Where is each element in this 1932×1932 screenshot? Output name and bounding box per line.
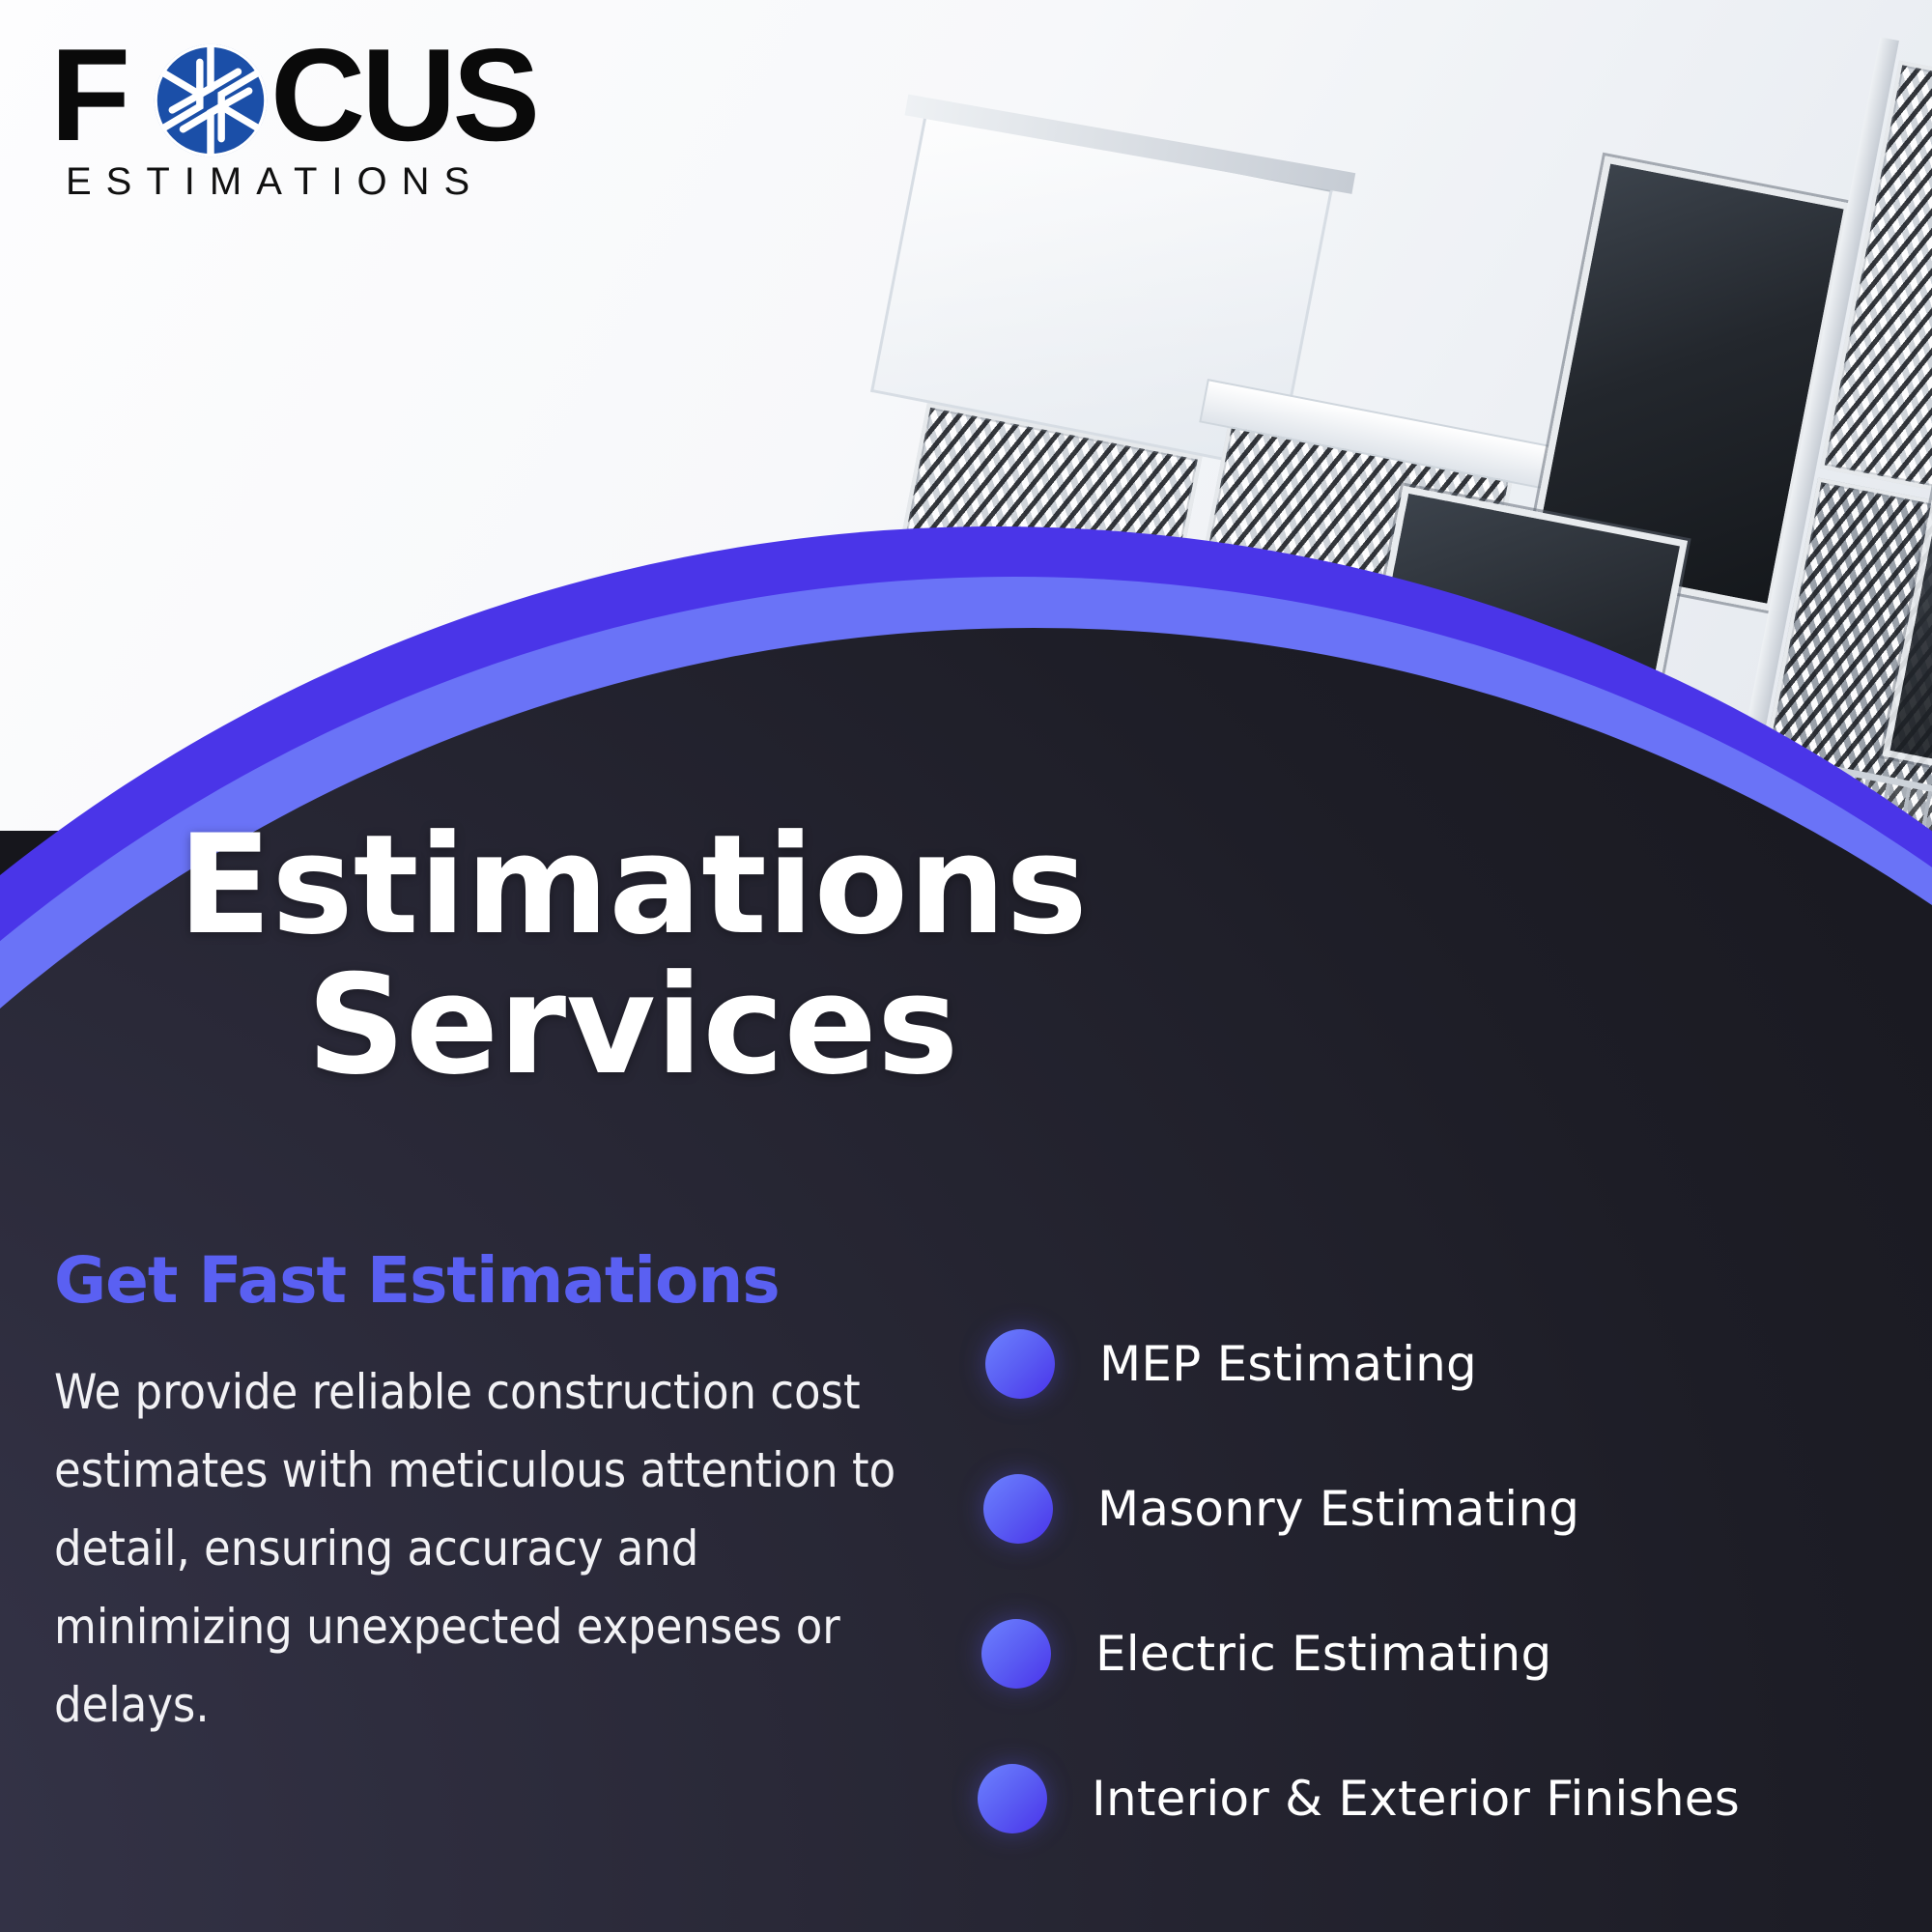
- service-list-item[interactable]: Electric Estimating: [981, 1619, 1932, 1689]
- service-label: MEP Estimating: [1099, 1336, 1477, 1392]
- page-title-line-1: Estimations: [0, 816, 1265, 956]
- services-column: MEP Estimating Masonry Estimating Electr…: [966, 1246, 1932, 1833]
- service-list-item[interactable]: MEP Estimating: [985, 1329, 1932, 1399]
- bullet-dot-icon: [983, 1474, 1053, 1544]
- page-title: Estimations Services: [0, 816, 1265, 1096]
- logo-wordmark: F: [50, 33, 495, 156]
- bullet-dot-icon: [978, 1764, 1047, 1833]
- description-paragraph: We provide reliable construction cost es…: [54, 1353, 904, 1745]
- poster-canvas: F: [0, 0, 1932, 1932]
- brand-logo[interactable]: F: [50, 33, 495, 204]
- description-column: Get Fast Estimations We provide reliable…: [0, 1246, 966, 1745]
- page-title-line-2: Services: [0, 956, 1265, 1096]
- section-subheading: Get Fast Estimations: [54, 1246, 927, 1317]
- bullet-dot-icon: [981, 1619, 1051, 1689]
- service-list-item[interactable]: Interior & Exterior Finishes: [978, 1764, 1932, 1833]
- content-area: Get Fast Estimations We provide reliable…: [0, 1246, 1932, 1874]
- services-list: MEP Estimating Masonry Estimating Electr…: [976, 1329, 1932, 1833]
- service-list-item[interactable]: Masonry Estimating: [983, 1474, 1932, 1544]
- service-label: Electric Estimating: [1095, 1626, 1551, 1682]
- camera-aperture-icon: [151, 41, 270, 160]
- logo-letters-cus: CUS: [270, 33, 536, 156]
- service-label: Interior & Exterior Finishes: [1092, 1771, 1740, 1827]
- service-label: Masonry Estimating: [1097, 1481, 1579, 1537]
- bullet-dot-icon: [985, 1329, 1055, 1399]
- logo-letter-f: F: [50, 33, 127, 156]
